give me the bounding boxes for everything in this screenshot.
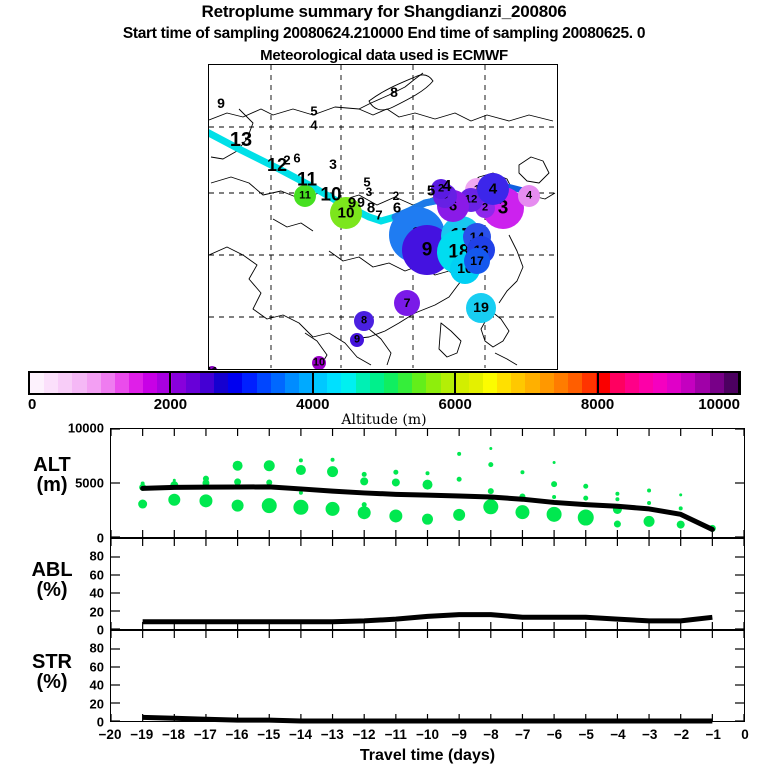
colorbar-segment <box>313 373 327 393</box>
colorbar-segment <box>58 373 72 393</box>
x-tick-label: −17 <box>194 727 217 742</box>
trajectory-day-label: 2 <box>283 154 290 167</box>
colorbar-title: Altitude (m) <box>0 412 768 428</box>
x-tick-label: −7 <box>515 727 530 742</box>
alt-bubble <box>488 462 493 467</box>
colorbar-segment <box>582 373 596 393</box>
alt-bubble <box>552 495 556 499</box>
colorbar-tick-label: 4000 <box>296 396 329 413</box>
alt-bubble <box>547 507 562 522</box>
alt-plot <box>111 429 744 537</box>
trajectory-day-label: 9 <box>348 196 356 211</box>
trajectory-day-label: 9 <box>357 195 365 209</box>
trajectory-day-label: 10 <box>320 186 341 205</box>
trajectory-day-label: 6 <box>293 152 300 165</box>
map-bubble-label: 19 <box>473 301 489 315</box>
alt-bubble <box>515 505 529 519</box>
x-tick-label: −6 <box>547 727 562 742</box>
x-tick-label: −10 <box>416 727 439 742</box>
trajectory-day-label: 3 <box>366 186 373 198</box>
y-tick-label: 40 <box>40 678 104 693</box>
colorbar-segment <box>398 373 412 393</box>
alt-bubble <box>677 521 685 529</box>
alt-bubble <box>168 494 180 506</box>
alt-bubble <box>392 478 400 486</box>
trajectory-day-label: 8 <box>390 85 398 99</box>
altitude-colorbar[interactable] <box>28 371 740 395</box>
colorbar-segment <box>87 373 101 393</box>
alt-bubble <box>326 502 340 516</box>
alt-bubble <box>647 489 651 493</box>
alt-bubble <box>299 458 303 462</box>
colorbar-segment <box>455 373 469 393</box>
colorbar-segment <box>327 373 341 393</box>
alt-bubble <box>293 500 308 515</box>
colorbar-segment <box>285 373 299 393</box>
trajectory-day-label: 4 <box>310 119 317 132</box>
x-tick-label: −18 <box>162 727 185 742</box>
colorbar-segment <box>525 373 539 393</box>
y-tick-label: 0 <box>40 531 104 546</box>
retroplume-map[interactable]: 1011891518161413173421126524789191011 13… <box>208 64 558 370</box>
trajectory-day-label: 5 <box>427 184 435 199</box>
alt-bubble <box>422 514 433 525</box>
y-tick-label: 0 <box>40 715 104 730</box>
trajectory-day-label: 11 <box>297 171 317 190</box>
alt-bubble <box>679 506 683 510</box>
alt-bubble <box>423 480 433 490</box>
x-tick-label: −8 <box>483 727 498 742</box>
colorbar-segment <box>143 373 157 393</box>
colorbar-tick <box>597 371 599 395</box>
colorbar-segment <box>228 373 242 393</box>
alt-bubble <box>647 501 651 505</box>
abl-line <box>143 615 713 622</box>
colorbar-tick-label: 0 <box>28 396 36 413</box>
y-tick-label: 80 <box>40 549 104 564</box>
colorbar-segment <box>610 373 624 393</box>
colorbar-tick <box>169 371 171 395</box>
colorbar-segment <box>186 373 200 393</box>
alt-bubble <box>615 492 619 496</box>
alt-bubble <box>360 477 368 485</box>
y-tick-label: 20 <box>40 696 104 711</box>
colorbar-tick-label: 10000 <box>698 396 740 413</box>
colorbar-segment <box>625 373 639 393</box>
alt-bubble <box>614 521 621 528</box>
map-bubble-label: 9 <box>422 241 433 260</box>
x-tick-label: −14 <box>289 727 312 742</box>
x-tick-label: −11 <box>385 727 407 742</box>
colorbar-segment <box>370 373 384 393</box>
colorbar-segment <box>426 373 440 393</box>
alt-bubble <box>583 496 588 501</box>
y-tick-label: 40 <box>40 586 104 601</box>
alt-bubble <box>264 460 275 471</box>
colorbar-segment <box>724 373 738 393</box>
colorbar-segment <box>497 373 511 393</box>
alt-bubble <box>262 498 277 513</box>
alt-bubble <box>644 516 655 527</box>
map-bubble-label: 4 <box>489 181 497 196</box>
alt-bubble <box>393 470 398 475</box>
map-bubble-label: 9 <box>354 335 360 346</box>
alt-bubble <box>583 484 588 489</box>
map-bubble-label: 10 <box>313 358 325 369</box>
colorbar-segment <box>257 373 271 393</box>
colorbar-segment <box>412 373 426 393</box>
colorbar-segment <box>511 373 525 393</box>
colorbar-segment <box>214 373 228 393</box>
y-tick-label: 0 <box>40 623 104 638</box>
alt-bubble <box>488 488 494 494</box>
alt-bubble <box>553 461 556 464</box>
colorbar-segment <box>540 373 554 393</box>
colorbar-segment <box>200 373 214 393</box>
alt-bubble <box>551 481 557 487</box>
colorbar-segment <box>710 373 724 393</box>
colorbar-segment <box>356 373 370 393</box>
trajectory-day-label: 5 <box>310 105 317 118</box>
alt-bubble <box>358 506 371 519</box>
colorbar-segment <box>681 373 695 393</box>
x-tick-label: −19 <box>130 727 153 742</box>
abl-plot <box>111 539 744 629</box>
trajectory-day-label: 7 <box>375 209 382 222</box>
x-tick-label: −1 <box>706 727 721 742</box>
sampling-time-line: Start time of sampling 20080624.210000 E… <box>0 25 768 43</box>
x-tick-label: −15 <box>257 727 280 742</box>
alt-bubble <box>327 466 338 477</box>
colorbar-segment <box>554 373 568 393</box>
y-tick-label: 60 <box>40 567 104 582</box>
colorbar-segment <box>72 373 86 393</box>
map-bubble-label: 8 <box>361 316 367 327</box>
colorbar-segment <box>341 373 355 393</box>
colorbar-segment <box>695 373 709 393</box>
y-tick-label: 5000 <box>40 476 104 491</box>
met-data-line: Meteorological data used is ECMWF <box>0 47 768 64</box>
page-title: Retroplume summary for Shangdianzi_20080… <box>0 2 768 22</box>
colorbar-tick-label: 8000 <box>581 396 614 413</box>
x-tick-label: −4 <box>610 727 625 742</box>
alt-bubble <box>578 510 594 526</box>
alt-bubble <box>483 499 498 514</box>
x-tick-label: −2 <box>674 727 689 742</box>
alt-bubble <box>233 461 243 471</box>
colorbar-segment <box>172 373 186 393</box>
alt-label-line1: ALT <box>8 455 96 475</box>
colorbar-segment <box>30 373 44 393</box>
colorbar-segment <box>129 373 143 393</box>
colorbar-segment <box>441 373 455 393</box>
trajectory-day-label: 4 <box>443 179 452 195</box>
colorbar-tick-label: 6000 <box>439 396 472 413</box>
alt-bubble <box>426 471 430 475</box>
trajectory-day-label: 13 <box>230 130 252 150</box>
alt-bubble <box>615 497 619 501</box>
map-bubble-label: 11 <box>208 367 218 371</box>
trajectory-day-label: 3 <box>329 157 337 171</box>
alt-bubble <box>138 500 147 509</box>
colorbar-tick <box>739 371 741 395</box>
alt-bubble <box>296 465 306 475</box>
colorbar-tick <box>312 371 314 395</box>
colorbar-segment <box>242 373 256 393</box>
x-tick-label: −16 <box>226 727 249 742</box>
alt-bubble <box>489 447 492 450</box>
colorbar-segment <box>44 373 58 393</box>
alt-bubble <box>362 472 367 477</box>
alt-panel[interactable] <box>110 428 745 538</box>
x-tick-label: −3 <box>642 727 657 742</box>
colorbar-segment <box>271 373 285 393</box>
colorbar-segment <box>469 373 483 393</box>
colorbar-segment <box>568 373 582 393</box>
colorbar-segment <box>384 373 398 393</box>
alt-bubble <box>520 470 524 474</box>
alt-bubble <box>453 509 465 521</box>
trajectory-day-label: 2 <box>393 190 400 202</box>
map-bubble-label: 11 <box>299 191 311 202</box>
alt-bubble <box>457 477 462 482</box>
y-tick-label: 10000 <box>40 421 104 436</box>
colorbar-tick <box>454 371 456 395</box>
str-panel[interactable] <box>110 630 745 722</box>
str-plot <box>111 631 744 721</box>
x-tick-label: −20 <box>99 727 122 742</box>
trajectory-day-label: 8 <box>367 201 375 216</box>
x-tick-label: −13 <box>321 727 344 742</box>
trajectory-day-label: 9 <box>217 96 225 110</box>
y-tick-label: 80 <box>40 641 104 656</box>
alt-bubble <box>199 494 212 507</box>
y-tick-label: 20 <box>40 604 104 619</box>
map-bubble-label: 7 <box>404 297 411 309</box>
alt-bubble <box>457 452 461 456</box>
x-tick-label: −12 <box>353 727 376 742</box>
map-bubble-label: 4 <box>526 191 532 202</box>
y-tick-label: 60 <box>40 659 104 674</box>
x-tick-label: −9 <box>452 727 467 742</box>
colorbar-tick-label: 2000 <box>154 396 187 413</box>
map-bubble-label: 17 <box>470 255 484 267</box>
colorbar-segment <box>101 373 115 393</box>
colorbar-segment <box>639 373 653 393</box>
alt-bubble <box>234 478 241 485</box>
x-tick-label: 0 <box>741 727 749 742</box>
x-axis-title: Travel time (days) <box>110 747 745 765</box>
colorbar-segment <box>115 373 129 393</box>
alt-bubble <box>331 458 335 462</box>
alt-bubble <box>232 500 244 512</box>
x-tick-label: −5 <box>579 727 594 742</box>
colorbar-segment <box>653 373 667 393</box>
alt-bubble <box>679 493 682 496</box>
colorbar-segment <box>667 373 681 393</box>
alt-bubble <box>389 509 402 522</box>
abl-panel[interactable] <box>110 538 745 630</box>
colorbar-segment <box>483 373 497 393</box>
